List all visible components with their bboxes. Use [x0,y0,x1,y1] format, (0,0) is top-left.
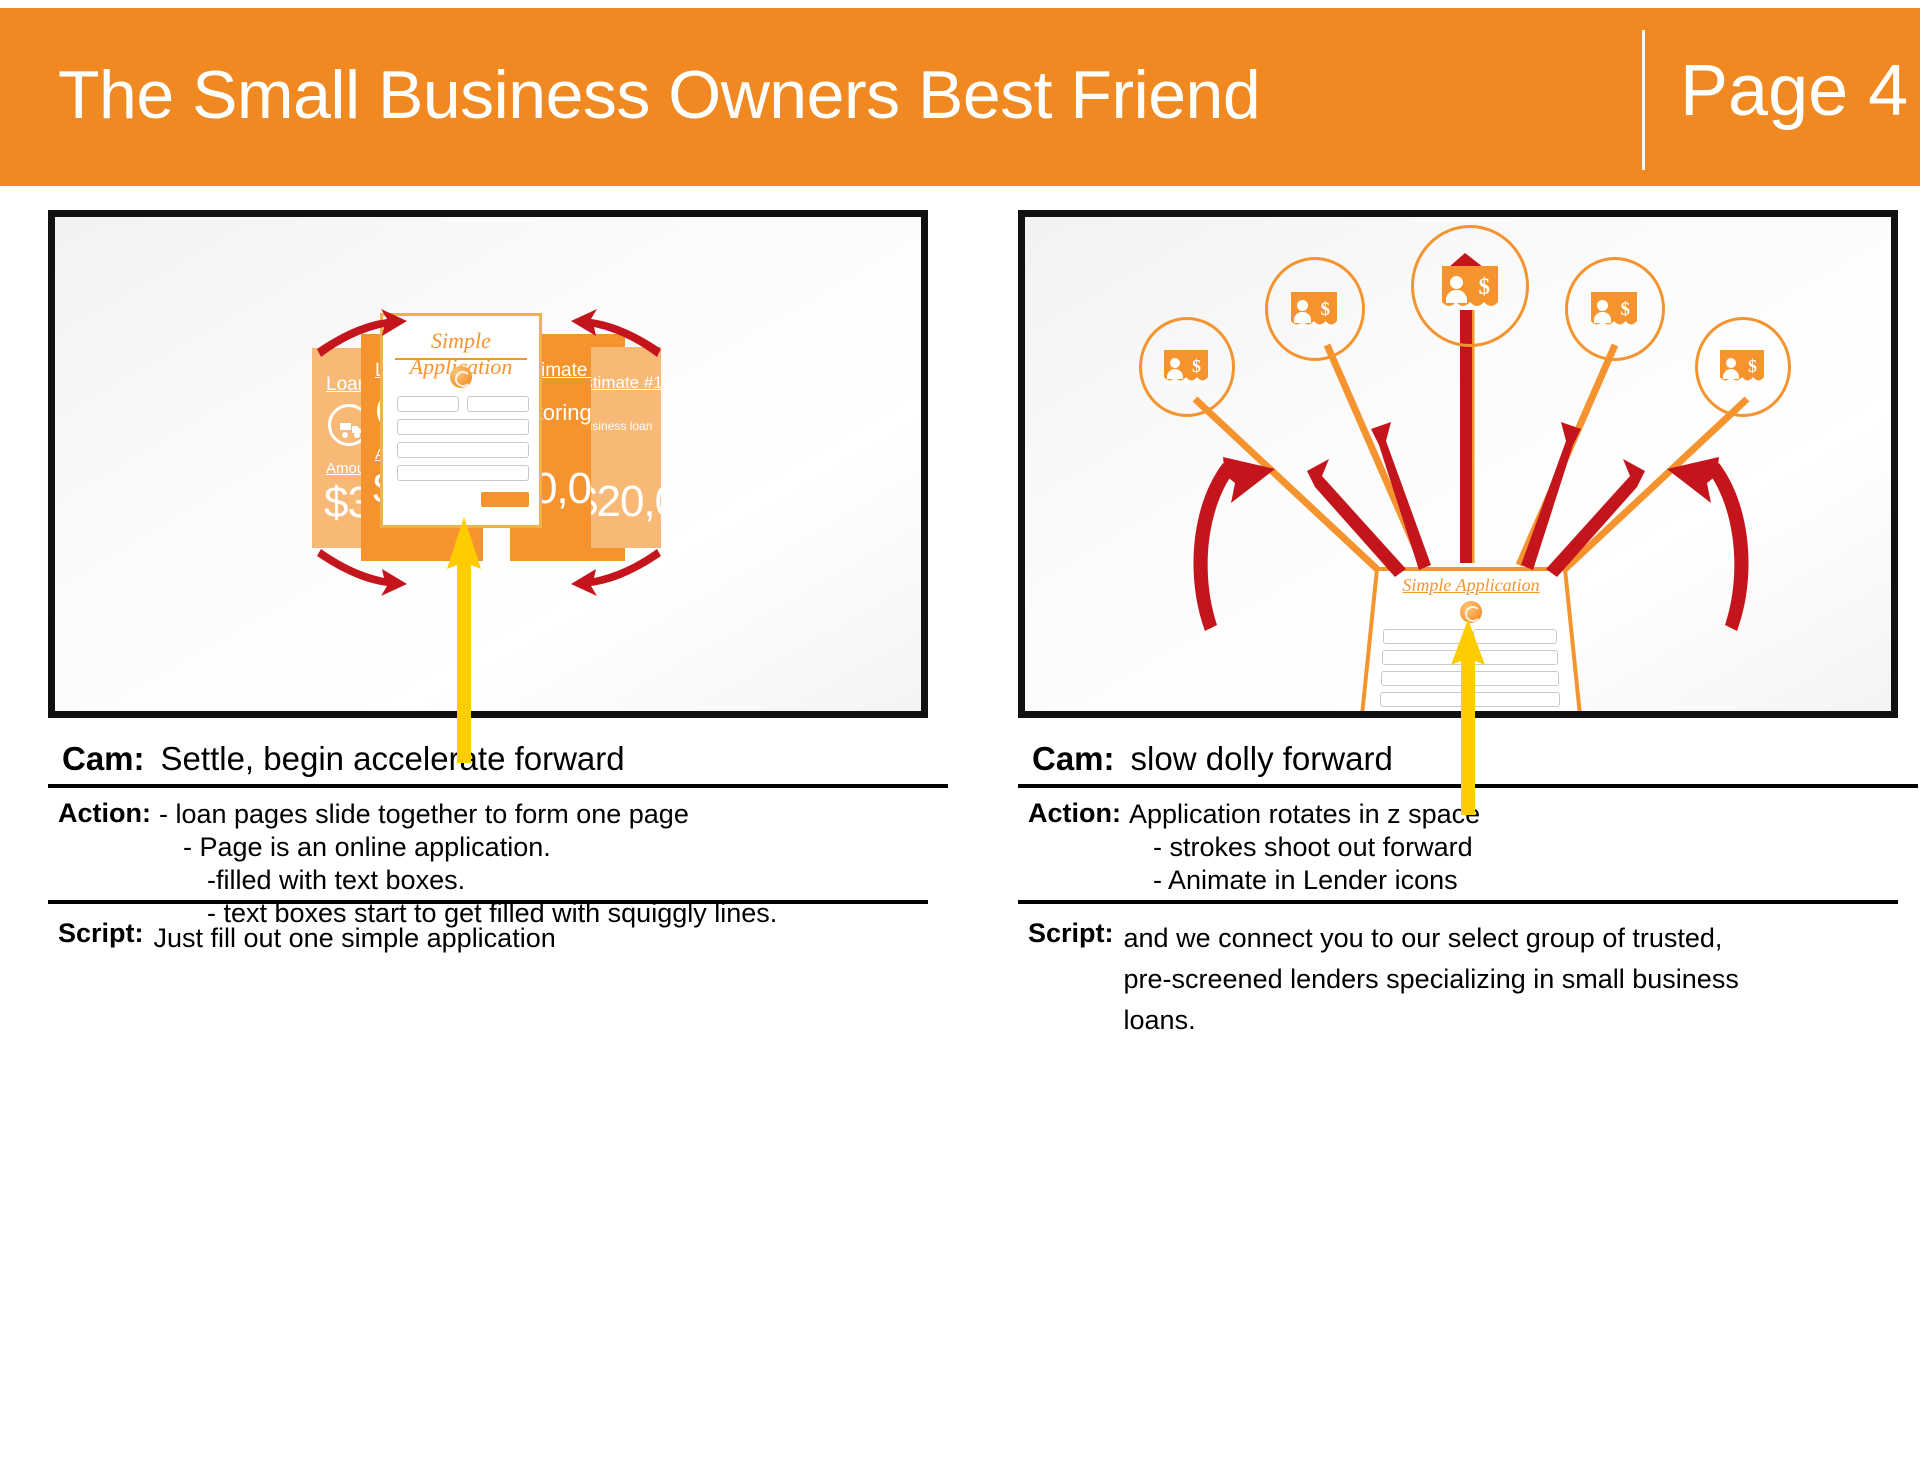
lender-person-dollar-icon: $ [1164,350,1208,384]
script-divider [48,900,928,904]
lender-bubble: $ [1411,225,1529,347]
script-lines: and we connect you to our select group o… [1124,918,1739,1041]
lender-bubble: $ [1695,317,1791,417]
lender-person-dollar-icon: $ [1720,350,1764,384]
action-line: Application rotates in z space [1129,798,1480,831]
page-header: The Small Business Owners Best Friend Pa… [0,8,1920,186]
action-line: -filled with text boxes. [207,864,777,897]
lender-bubble: $ [1565,257,1665,361]
script-line: pre-screened lenders specializing in sma… [1124,959,1739,1000]
cam-value: Settle, begin accelerate forward [161,740,625,778]
script-lines: Just fill out one simple application [154,918,556,959]
action-line: - Animate in Lender icons [1153,864,1480,897]
lender-bubble: $ [1265,257,1365,361]
storyboard-panel-left: Loan Estimate #10 Amount $30,000 Loan Es… [48,210,928,718]
page-title: The Small Business Owners Best Friend [58,56,1260,134]
yellow-pointer-arrow [1437,619,1507,819]
script-divider [1018,900,1898,904]
storyboard-column-right: Simple Application [1018,210,1918,897]
action-lines: Application rotates in z space - strokes… [1129,798,1480,897]
script-line: Just fill out one simple application [154,918,556,959]
script-row: Script: Just fill out one simple applica… [48,900,928,959]
lender-person-dollar-icon: $ [1591,292,1637,328]
lender-bubble: $ [1139,317,1235,417]
cam-label: Cam: [62,740,145,778]
header-divider [1642,30,1645,170]
script-label: Script: [1028,918,1114,1041]
storyboard-panel-right: Simple Application [1018,210,1898,718]
script-line: and we connect you to our select group o… [1124,918,1739,959]
lender-person-dollar-icon: $ [1442,266,1498,310]
page-number-label: Page 4 [1680,50,1908,132]
action-line: - Page is an online application. [183,831,777,864]
cam-label: Cam: [1032,740,1115,778]
action-line: - loan pages slide together to form one … [159,798,777,831]
script-line: loans. [1124,1000,1739,1041]
lender-person-dollar-icon: $ [1291,292,1337,328]
action-line: - strokes shoot out forward [1153,831,1480,864]
storyboard-column-left: Loan Estimate #10 Amount $30,000 Loan Es… [48,210,948,930]
yellow-pointer-arrow [433,517,503,767]
script-label: Script: [58,918,144,959]
script-row: Script: and we connect you to our select… [1018,900,1898,1041]
cam-value: slow dolly forward [1131,740,1393,778]
action-label: Action: [1028,798,1121,897]
